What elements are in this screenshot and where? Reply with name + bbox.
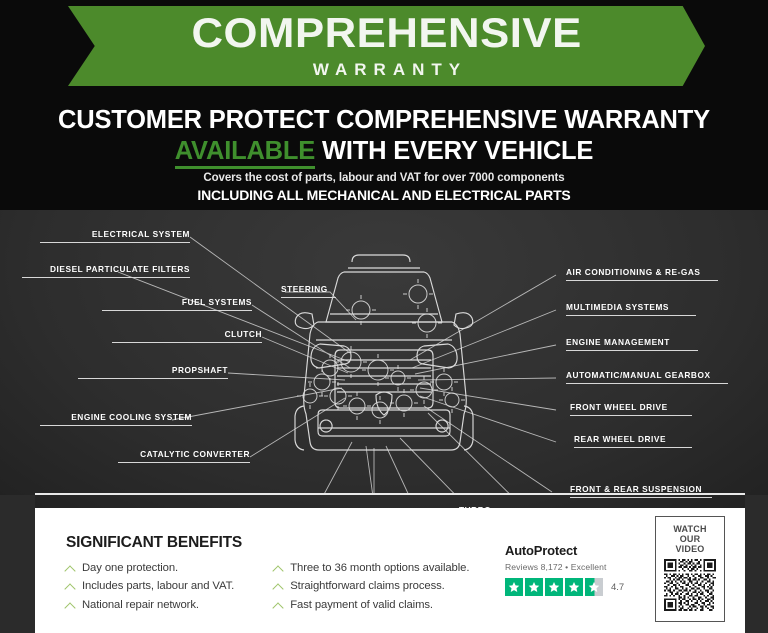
qr-caption-line-1: WATCH: [673, 524, 706, 534]
diagram-label-clutch: CLUTCH: [112, 329, 262, 343]
benefits-title: SIGNIFICANT BENEFITS: [66, 534, 242, 552]
star-icon: [505, 578, 523, 596]
star-icon: [525, 578, 543, 596]
qr-code-icon: [664, 559, 716, 611]
benefit-text: Day one protection.: [82, 560, 178, 576]
list-item: Includes parts, labour and VAT.: [66, 578, 234, 594]
section-divider: [35, 493, 745, 495]
brand-name: AutoProtect: [505, 543, 624, 558]
diagram-label-propshaft: PROPSHAFT: [78, 365, 228, 379]
card-gutter-right: [745, 495, 768, 633]
benefit-text: Fast payment of valid claims.: [290, 597, 433, 613]
chevron-up-icon: [274, 564, 283, 573]
diagram-label-fuel-systems: FUEL SYSTEMS: [102, 297, 252, 311]
chevron-up-icon: [66, 564, 75, 573]
qr-caption-line-2: OUR: [680, 534, 701, 544]
qr-caption-line-3: VIDEO: [675, 544, 704, 554]
comprehensive-warranty-banner: COMPREHENSIVE WARRANTY: [68, 6, 705, 86]
diagram-label-air-conditioning-regas: AIR CONDITIONING & RE-GAS: [566, 267, 718, 281]
diagram-label-diesel-particulate-filters: DIESEL PARTICULATE FILTERS: [22, 264, 190, 278]
chevron-up-icon: [66, 601, 75, 610]
rating-score: 4.7: [611, 582, 624, 593]
chevron-up-icon: [274, 582, 283, 591]
diagram-label-engine-cooling-system: ENGINE COOLING SYSTEM: [40, 412, 192, 426]
headline-line-2-rest: WITH EVERY VEHICLE: [315, 137, 593, 165]
list-item: Day one protection.: [66, 560, 234, 576]
headline-sub-2: INCLUDING ALL MECHANICAL AND ELECTRICAL …: [0, 187, 768, 203]
diagram-label-catalytic-converter: CATALYTIC CONVERTER: [118, 449, 250, 463]
trustpilot-rating: AutoProtect Reviews 8,172 • Excellent 4.…: [505, 543, 624, 596]
headline-highlight: AVAILABLE: [175, 137, 315, 169]
diagram-label-front-wheel-drive: FRONT WHEEL DRIVE: [570, 402, 692, 416]
diagram-label-steering: STEERING: [281, 284, 336, 298]
star-icon: [565, 578, 583, 596]
list-item: Three to 36 month options available.: [274, 560, 469, 576]
star-icon: [545, 578, 563, 596]
benefits-column-1: Day one protection. Includes parts, labo…: [66, 560, 234, 613]
benefit-text: Straightforward claims process.: [290, 578, 444, 594]
headline-line-1: CUSTOMER PROTECT COMPREHENSIVE WARRANTY: [0, 105, 768, 136]
warranty-poster: COMPREHENSIVE WARRANTY CUSTOMER PROTECT …: [0, 0, 768, 633]
list-item: Fast payment of valid claims.: [274, 597, 469, 613]
benefits-list: Day one protection. Includes parts, labo…: [66, 560, 469, 613]
diagram-label-multimedia-systems: MULTIMEDIA SYSTEMS: [566, 302, 696, 316]
diagram-label-electrical-system: ELECTRICAL SYSTEM: [40, 229, 190, 243]
benefit-text: National repair network.: [82, 597, 199, 613]
reviews-summary: Reviews 8,172 • Excellent: [505, 562, 624, 572]
page-headline: CUSTOMER PROTECT COMPREHENSIVE WARRANTY …: [0, 105, 768, 168]
star-rating: 4.7: [505, 578, 624, 596]
watch-our-video-qr-box[interactable]: WATCH OUR VIDEO: [655, 516, 725, 622]
benefit-text: Includes parts, labour and VAT.: [82, 578, 234, 594]
significant-benefits-card: SIGNIFICANT BENEFITS Day one protection.…: [35, 508, 745, 633]
banner-title: COMPREHENSIVE: [191, 12, 581, 54]
diagram-label-automatic-manual-gearbox: AUTOMATIC/MANUAL GEARBOX: [566, 370, 728, 384]
diagram-label-front-rear-suspension: FRONT & REAR SUSPENSION: [570, 484, 712, 498]
list-item: Straightforward claims process.: [274, 578, 469, 594]
list-item: National repair network.: [66, 597, 234, 613]
chevron-up-icon: [66, 582, 75, 591]
benefit-text: Three to 36 month options available.: [290, 560, 469, 576]
diagram-lines-and-car: [0, 210, 768, 495]
diagram-label-engine-management: ENGINE MANAGEMENT: [566, 337, 698, 351]
benefits-column-2: Three to 36 month options available. Str…: [274, 560, 469, 613]
chevron-up-icon: [274, 601, 283, 610]
star-half-icon: [585, 578, 603, 596]
banner-subtitle: WARRANTY: [306, 60, 467, 80]
headline-sub-1: Covers the cost of parts, labour and VAT…: [0, 172, 768, 184]
card-gutter-left: [0, 495, 35, 633]
covered-components-diagram: ELECTRICAL SYSTEM DIESEL PARTICULATE FIL…: [0, 210, 768, 495]
diagram-label-rear-wheel-drive: REAR WHEEL DRIVE: [574, 434, 692, 448]
headline-line-2: AVAILABLE WITH EVERY VEHICLE: [0, 136, 768, 167]
